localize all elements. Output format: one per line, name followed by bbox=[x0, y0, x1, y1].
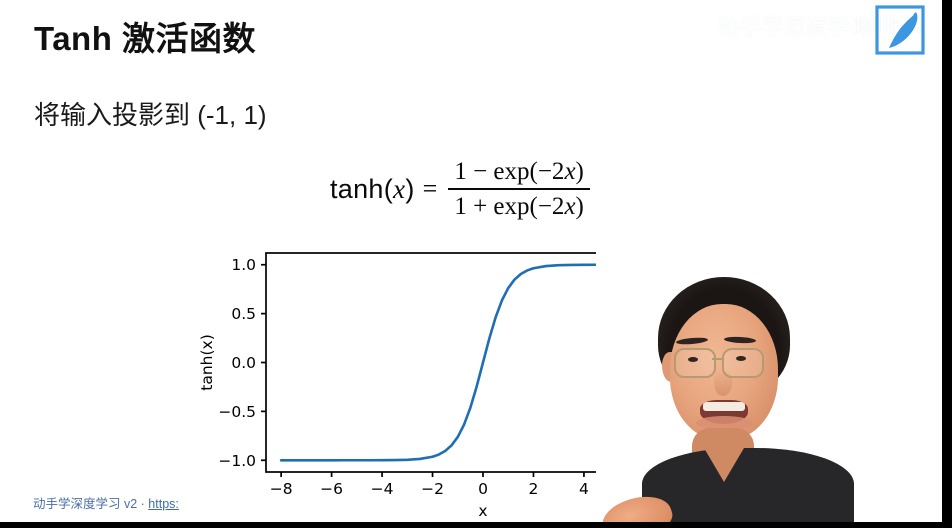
slide-footer: 动手学深度学习 v2 · https: bbox=[33, 493, 179, 512]
formula-equals-sign: = bbox=[423, 174, 438, 204]
x-tick-label: 2 bbox=[529, 480, 539, 498]
numerator-prefix: 1 − exp(−2 bbox=[454, 158, 564, 185]
slide-subtitle: 将输入投影到 (-1, 1) bbox=[34, 95, 267, 132]
formula-numerator: 1 − exp(−2x) bbox=[448, 158, 590, 188]
y-axis-label: tanh(x) bbox=[198, 334, 216, 391]
denominator-variable: x bbox=[564, 193, 575, 220]
y-tick-label: 0.0 bbox=[231, 354, 256, 372]
course-watermark: 动手学深度学习 bbox=[718, 11, 872, 41]
presenter-glasses-bridge bbox=[712, 358, 723, 360]
presenter-shirt bbox=[642, 448, 854, 522]
formula-lhs-variable: x bbox=[393, 174, 405, 204]
letterbox-bar-right bbox=[942, 0, 952, 528]
y-tick-label: 0.5 bbox=[231, 305, 256, 323]
x-tick-label: −6 bbox=[320, 480, 343, 498]
d2l-logo-icon bbox=[873, 3, 927, 57]
slide-screen: Tanh 激活函数 将输入投影到 (-1, 1) tanh(x) = 1 − e… bbox=[0, 0, 952, 528]
presenter-video-overlay bbox=[596, 252, 942, 522]
letterbox-bar-bottom bbox=[0, 522, 952, 528]
formula-left-hand-side: tanh(x) bbox=[330, 174, 415, 205]
denominator-prefix: 1 + exp(−2 bbox=[454, 193, 564, 220]
x-tick-label: −4 bbox=[371, 480, 394, 498]
presenter-eye-left bbox=[688, 357, 698, 362]
numerator-variable: x bbox=[564, 158, 575, 185]
x-tick-label: 4 bbox=[579, 480, 589, 498]
x-tick-label: 0 bbox=[478, 480, 488, 498]
formula-denominator: 1 + exp(−2x) bbox=[448, 190, 590, 221]
x-tick-label: −2 bbox=[421, 480, 444, 498]
presenter-teeth bbox=[703, 402, 745, 411]
presenter-nose bbox=[714, 370, 732, 396]
presenter-glasses-left bbox=[674, 348, 716, 378]
y-axis-ticks: −1.0−0.50.00.51.0 bbox=[218, 256, 266, 470]
formula-fraction: 1 − exp(−2x) 1 + exp(−2x) bbox=[448, 158, 590, 221]
footer-text: 动手学深度学习 v2 · bbox=[33, 497, 148, 511]
numerator-suffix: ) bbox=[576, 158, 584, 185]
tanh-formula: tanh(x) = 1 − exp(−2x) 1 + exp(−2x) bbox=[330, 158, 590, 221]
denominator-suffix: ) bbox=[576, 193, 584, 220]
formula-lhs-close: ) bbox=[405, 174, 414, 204]
presenter-eye-right bbox=[736, 356, 746, 361]
y-tick-label: −1.0 bbox=[218, 452, 256, 470]
y-tick-label: 1.0 bbox=[231, 256, 256, 274]
x-axis-label: x bbox=[478, 502, 487, 518]
x-tick-label: −8 bbox=[270, 480, 293, 498]
y-tick-label: −0.5 bbox=[218, 403, 256, 421]
formula-fn-name: tanh( bbox=[330, 174, 393, 204]
footer-link[interactable]: https: bbox=[148, 497, 179, 511]
page-title: Tanh 激活函数 bbox=[34, 12, 256, 60]
